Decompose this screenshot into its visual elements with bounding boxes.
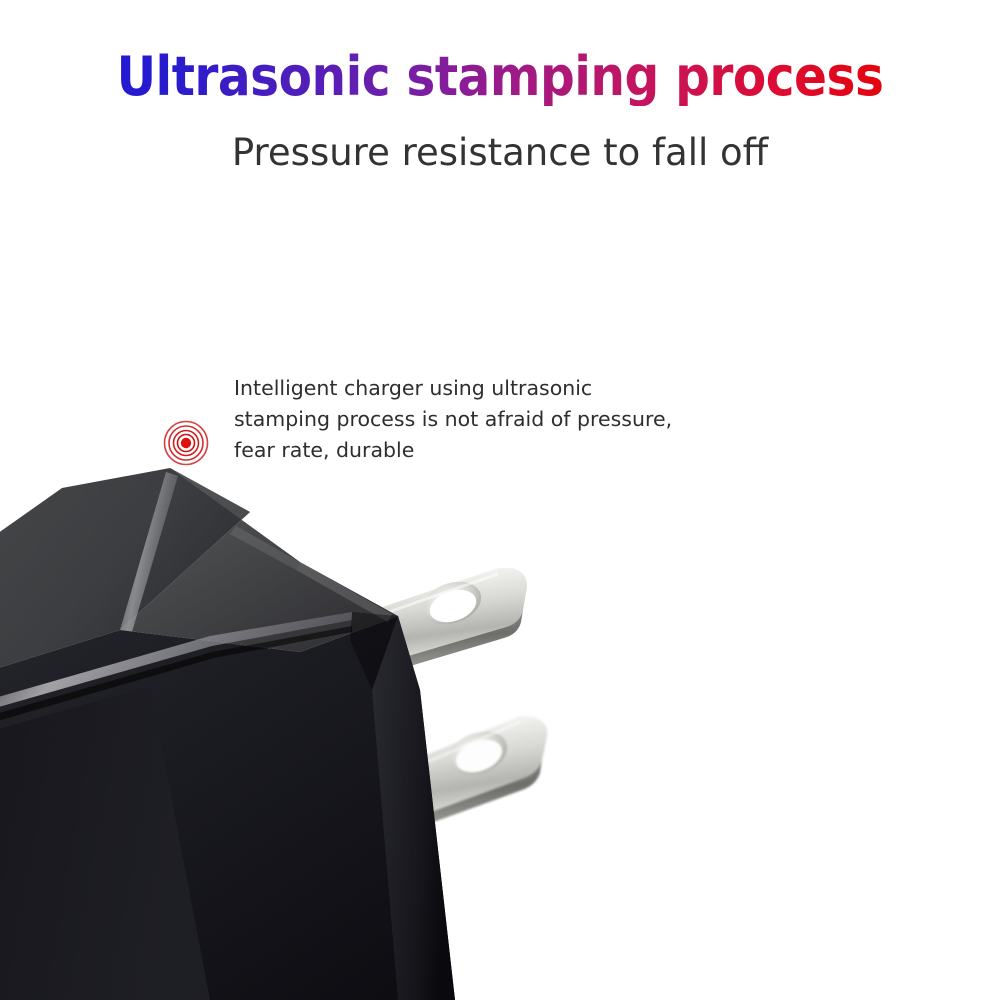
product-feature-page: Ultrasonic stamping process Pressure res… [0,0,1000,1000]
page-title: Ultrasonic stamping process [0,48,1000,106]
wave-center-dot [181,438,191,448]
product-photo [0,440,620,1000]
feature-description-line-1: Intelligent charger using ultrasonic [234,373,674,404]
ultrasonic-wave-icon [162,419,210,467]
page-subtitle: Pressure resistance to fall off [0,131,1000,175]
feature-description-line-2: stamping process is not afraid of pressu… [234,404,674,435]
